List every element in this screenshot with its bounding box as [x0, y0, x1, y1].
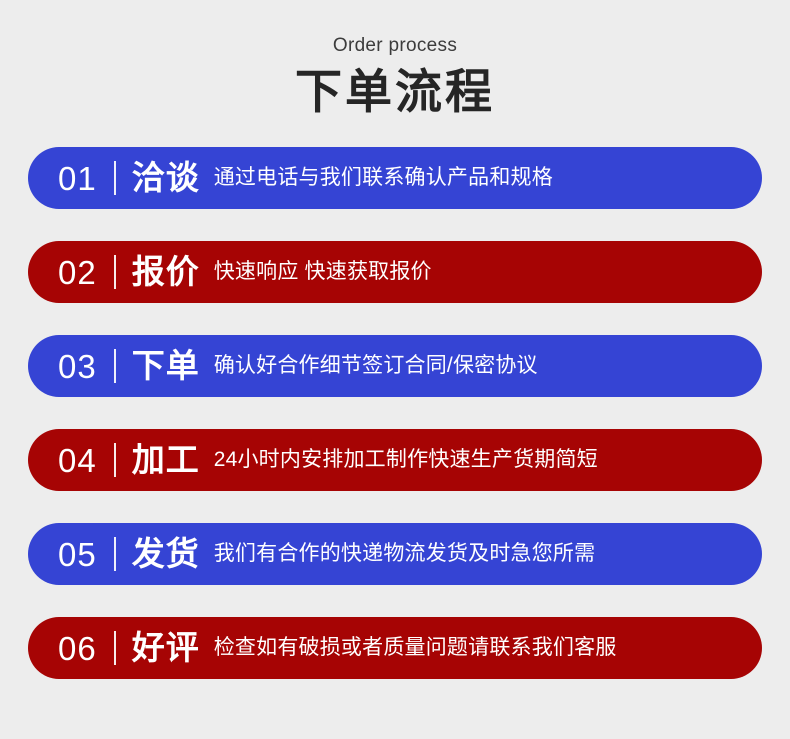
page-title: 下单流程 — [0, 64, 790, 120]
step-divider — [114, 349, 116, 383]
step-description: 检查如有破损或者质量问题请联系我们客服 — [214, 635, 617, 661]
step-index: 02 — [58, 256, 97, 289]
step-row[interactable]: 05 发货 我们有合作的快递物流发货及时急您所需 — [28, 523, 762, 585]
step-title: 加工 — [132, 442, 200, 478]
step-divider — [114, 631, 116, 665]
step-row[interactable]: 01 洽谈 通过电话与我们联系确认产品和规格 — [28, 147, 762, 209]
step-row[interactable]: 04 加工 24小时内安排加工制作快速生产货期简短 — [28, 429, 762, 491]
order-process-page: Order process 下单流程 01 洽谈 通过电话与我们联系确认产品和规… — [0, 0, 790, 739]
step-divider — [114, 161, 116, 195]
step-description: 24小时内安排加工制作快速生产货期简短 — [214, 447, 598, 473]
header-eyebrow: Order process — [0, 34, 790, 58]
step-title: 好评 — [132, 630, 200, 666]
step-title: 下单 — [132, 348, 200, 384]
step-title: 发货 — [132, 536, 200, 572]
step-index: 04 — [58, 444, 97, 477]
step-row[interactable]: 03 下单 确认好合作细节签订合同/保密协议 — [28, 335, 762, 397]
step-title: 报价 — [132, 254, 200, 290]
step-title: 洽谈 — [132, 160, 200, 196]
step-row[interactable]: 06 好评 检查如有破损或者质量问题请联系我们客服 — [28, 617, 762, 679]
step-description: 我们有合作的快递物流发货及时急您所需 — [214, 541, 596, 567]
page-header: Order process 下单流程 — [0, 0, 790, 120]
step-description: 确认好合作细节签订合同/保密协议 — [214, 353, 538, 379]
step-divider — [114, 443, 116, 477]
step-index: 03 — [58, 350, 97, 383]
step-description: 快速响应 快速获取报价 — [214, 259, 432, 285]
step-index: 06 — [58, 632, 97, 665]
step-description: 通过电话与我们联系确认产品和规格 — [214, 165, 553, 191]
step-divider — [114, 255, 116, 289]
step-index: 01 — [58, 162, 97, 195]
step-row[interactable]: 02 报价 快速响应 快速获取报价 — [28, 241, 762, 303]
step-index: 05 — [58, 538, 97, 571]
step-divider — [114, 537, 116, 571]
step-list: 01 洽谈 通过电话与我们联系确认产品和规格 02 报价 快速响应 快速获取报价… — [0, 147, 790, 679]
